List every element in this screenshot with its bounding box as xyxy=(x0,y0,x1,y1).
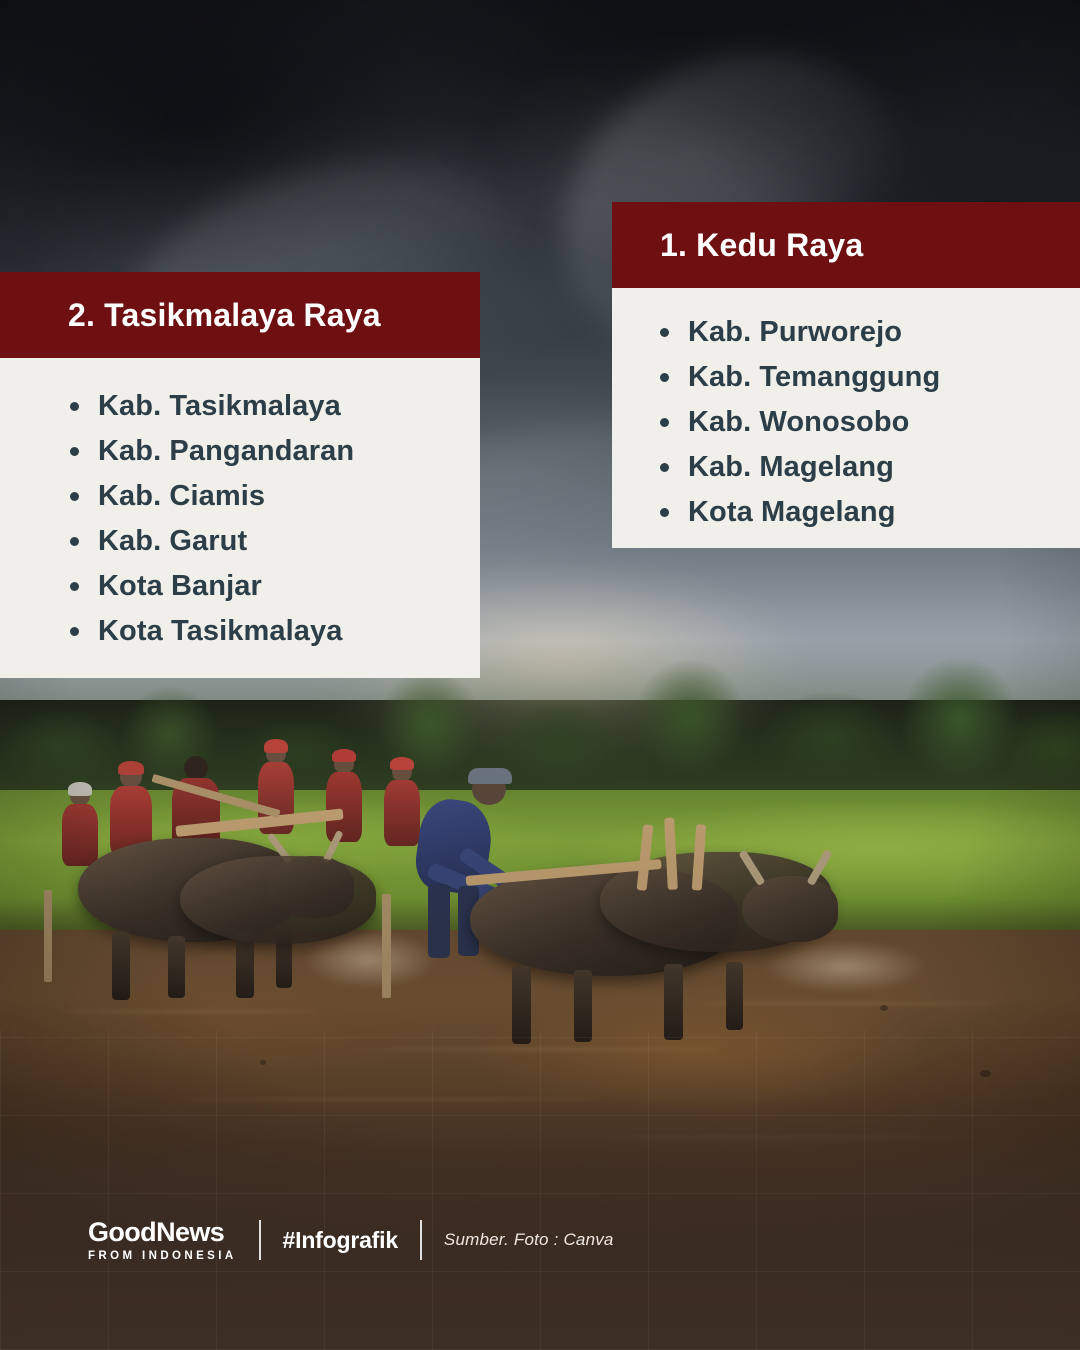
bullet-icon xyxy=(660,328,669,337)
farmer-cap xyxy=(468,768,512,784)
water-buffalo xyxy=(180,856,376,944)
buffalo-leg xyxy=(512,966,531,1044)
footer-divider xyxy=(259,1220,261,1260)
list-item-label: Kab. Purworejo xyxy=(688,316,902,349)
buffalo-leg xyxy=(574,970,592,1042)
card-body-kedu: Kab. Purworejo Kab. Temanggung Kab. Wono… xyxy=(612,288,1080,548)
list-item-label: Kab. Magelang xyxy=(688,451,894,484)
water-ripple xyxy=(600,1136,980,1139)
buffalo-leg xyxy=(726,962,743,1030)
bullet-icon xyxy=(70,582,79,591)
list-item: Kab. Ciamis xyxy=(70,474,480,519)
list-item-label: Kota Magelang xyxy=(688,496,896,529)
list-item-label: Kab. Pangandaran xyxy=(98,435,354,468)
water-ripple xyxy=(700,1002,1000,1005)
logo-sub-text: FROM INDONESIA xyxy=(88,1251,237,1263)
card-body-tasikmalaya: Kab. Tasikmalaya Kab. Pangandaran Kab. C… xyxy=(0,358,480,678)
list-item: Kab. Tasikmalaya xyxy=(70,384,480,429)
list-item: Kota Tasikmalaya xyxy=(70,609,480,654)
card-tasikmalaya-raya: 2. Tasikmalaya Raya Kab. Tasikmalaya Kab… xyxy=(0,272,480,678)
card-title: 2. Tasikmalaya Raya xyxy=(68,297,381,334)
bullet-icon xyxy=(660,508,669,517)
list-item: Kota Banjar xyxy=(70,564,480,609)
list-item-label: Kab. Wonosobo xyxy=(688,406,909,439)
list-item-label: Kota Banjar xyxy=(98,570,262,603)
bullet-icon xyxy=(70,402,79,411)
infographic-canvas: 2. Tasikmalaya Raya Kab. Tasikmalaya Kab… xyxy=(0,0,1080,1350)
buffalo-leg xyxy=(168,936,185,998)
water-ripple xyxy=(60,1010,320,1013)
bullet-icon xyxy=(660,373,669,382)
regency-list-kedu: Kab. Purworejo Kab. Temanggung Kab. Wono… xyxy=(660,310,1080,535)
bullet-icon xyxy=(660,418,669,427)
card-kedu-raya: 1. Kedu Raya Kab. Purworejo Kab. Temangg… xyxy=(612,202,1080,548)
goodnews-logo: GoodNews FROM INDONESIA xyxy=(88,1219,237,1263)
regency-list-tasikmalaya: Kab. Tasikmalaya Kab. Pangandaran Kab. C… xyxy=(70,384,480,654)
bullet-icon xyxy=(660,463,669,472)
buffalo-leg xyxy=(112,932,130,1000)
water-ripple xyxy=(380,1048,720,1051)
card-header-tasikmalaya: 2. Tasikmalaya Raya xyxy=(0,272,480,358)
list-item: Kab. Pangandaran xyxy=(70,429,480,474)
mud-speck xyxy=(260,1060,266,1065)
bullet-icon xyxy=(70,492,79,501)
list-item: Kab. Garut xyxy=(70,519,480,564)
mud-speck xyxy=(880,1005,888,1011)
footer-branding: GoodNews FROM INDONESIA #Infografik Sumb… xyxy=(88,1219,614,1263)
bullet-icon xyxy=(70,447,79,456)
list-item: Kota Magelang xyxy=(660,490,1080,535)
list-item: Kab. Magelang xyxy=(660,445,1080,490)
list-item-label: Kab. Tasikmalaya xyxy=(98,390,341,423)
card-header-kedu: 1. Kedu Raya xyxy=(612,202,1080,288)
water-ripple xyxy=(180,1098,600,1101)
buffalo-leg xyxy=(664,964,683,1040)
buffalo-head xyxy=(742,876,838,942)
hashtag-label: #Infografik xyxy=(283,1227,398,1254)
list-item-label: Kab. Garut xyxy=(98,525,247,558)
list-item-label: Kab. Ciamis xyxy=(98,480,265,513)
farmer-leg xyxy=(428,884,450,958)
bullet-icon xyxy=(70,627,79,636)
list-item-label: Kota Tasikmalaya xyxy=(98,615,342,648)
mud-splash xyxy=(760,940,930,994)
stake xyxy=(382,894,391,998)
source-credit: Sumber. Foto : Canva xyxy=(444,1230,614,1250)
card-title: 1. Kedu Raya xyxy=(660,227,863,264)
muddy-water-foreground xyxy=(0,930,1080,1350)
mud-speck xyxy=(980,1070,991,1077)
list-item: Kab. Temanggung xyxy=(660,355,1080,400)
stake xyxy=(44,890,52,982)
footer-divider xyxy=(420,1220,422,1260)
logo-main-text: GoodNews xyxy=(88,1219,224,1246)
list-item-label: Kab. Temanggung xyxy=(688,361,940,394)
list-item: Kab. Purworejo xyxy=(660,310,1080,355)
list-item: Kab. Wonosobo xyxy=(660,400,1080,445)
bullet-icon xyxy=(70,537,79,546)
